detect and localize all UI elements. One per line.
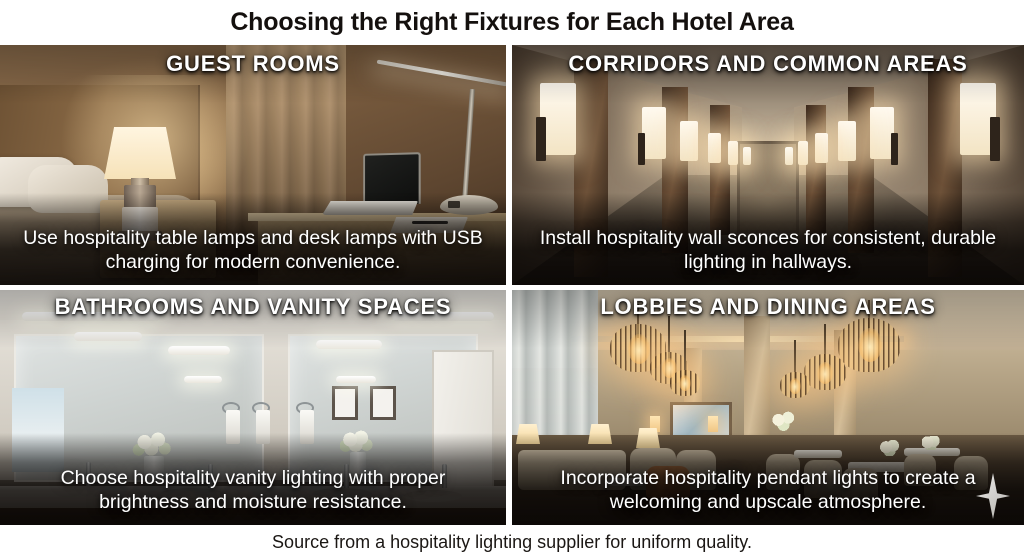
vanity-light-bar — [336, 376, 376, 383]
panel-guest-rooms[interactable]: GUEST ROOMS Use hospitality table lamps … — [0, 45, 506, 285]
panel-caption-lobbies: Incorporate hospitality pendant lights t… — [512, 461, 1024, 525]
floral-arrangement — [770, 410, 798, 432]
panel-caption-bathrooms: Choose hospitality vanity lighting with … — [0, 461, 506, 525]
sconce-bracket — [990, 117, 1000, 161]
wall-sconce — [642, 107, 666, 159]
panel-corridors-common-areas[interactable]: CORRIDORS AND COMMON AREAS Install hospi… — [512, 45, 1024, 285]
vanity-light-bar — [184, 376, 222, 383]
framed-art — [370, 386, 396, 420]
wall-sconce — [838, 121, 856, 161]
sconce-bracket — [891, 133, 898, 165]
table-lamp-shade — [104, 127, 176, 179]
pendant-bulb-glow — [679, 375, 691, 391]
wall-sconce — [708, 133, 721, 163]
pendant-bulb-glow — [817, 362, 833, 384]
wall-sconce — [798, 141, 808, 165]
title-bar: Choosing the Right Fixtures for Each Hot… — [0, 0, 1024, 45]
panel-lobbies-dining-areas[interactable]: LOBBIES AND DINING AREAS Incorporate hos… — [512, 290, 1024, 525]
framed-art — [332, 386, 358, 420]
wall-sconce — [680, 121, 698, 161]
wall-sconce — [743, 147, 751, 165]
footer-bar: Source from a hospitality lighting suppl… — [0, 525, 1024, 559]
sconce-bracket — [536, 117, 546, 161]
sconce-bracket — [638, 133, 645, 165]
panel-caption-guest-rooms: Use hospitality table lamps and desk lam… — [0, 221, 506, 285]
panel-title-lobbies: LOBBIES AND DINING AREAS — [512, 294, 1024, 320]
wall-sconce — [815, 133, 828, 163]
infographic-root: Choosing the Right Fixtures for Each Hot… — [0, 0, 1024, 559]
footer-source-text: Source from a hospitality lighting suppl… — [272, 532, 752, 553]
wall-sconce — [728, 141, 738, 165]
page-title: Choosing the Right Fixtures for Each Hot… — [230, 8, 793, 37]
panel-title-corridors: CORRIDORS AND COMMON AREAS — [512, 51, 1024, 77]
wall-sconce — [708, 416, 718, 432]
panel-title-bathrooms: BATHROOMS AND VANITY SPACES — [0, 294, 506, 320]
panel-grid: GUEST ROOMS Use hospitality table lamps … — [0, 45, 1024, 525]
panel-caption-corridors: Install hospitality wall sconces for con… — [512, 221, 1024, 285]
panel-bathrooms-vanity-spaces[interactable]: BATHROOMS AND VANITY SPACES Choose hospi… — [0, 290, 506, 525]
panel-title-guest-rooms: GUEST ROOMS — [0, 51, 506, 77]
pendant-bulb-glow — [789, 378, 801, 394]
wall-sconce — [785, 147, 793, 165]
